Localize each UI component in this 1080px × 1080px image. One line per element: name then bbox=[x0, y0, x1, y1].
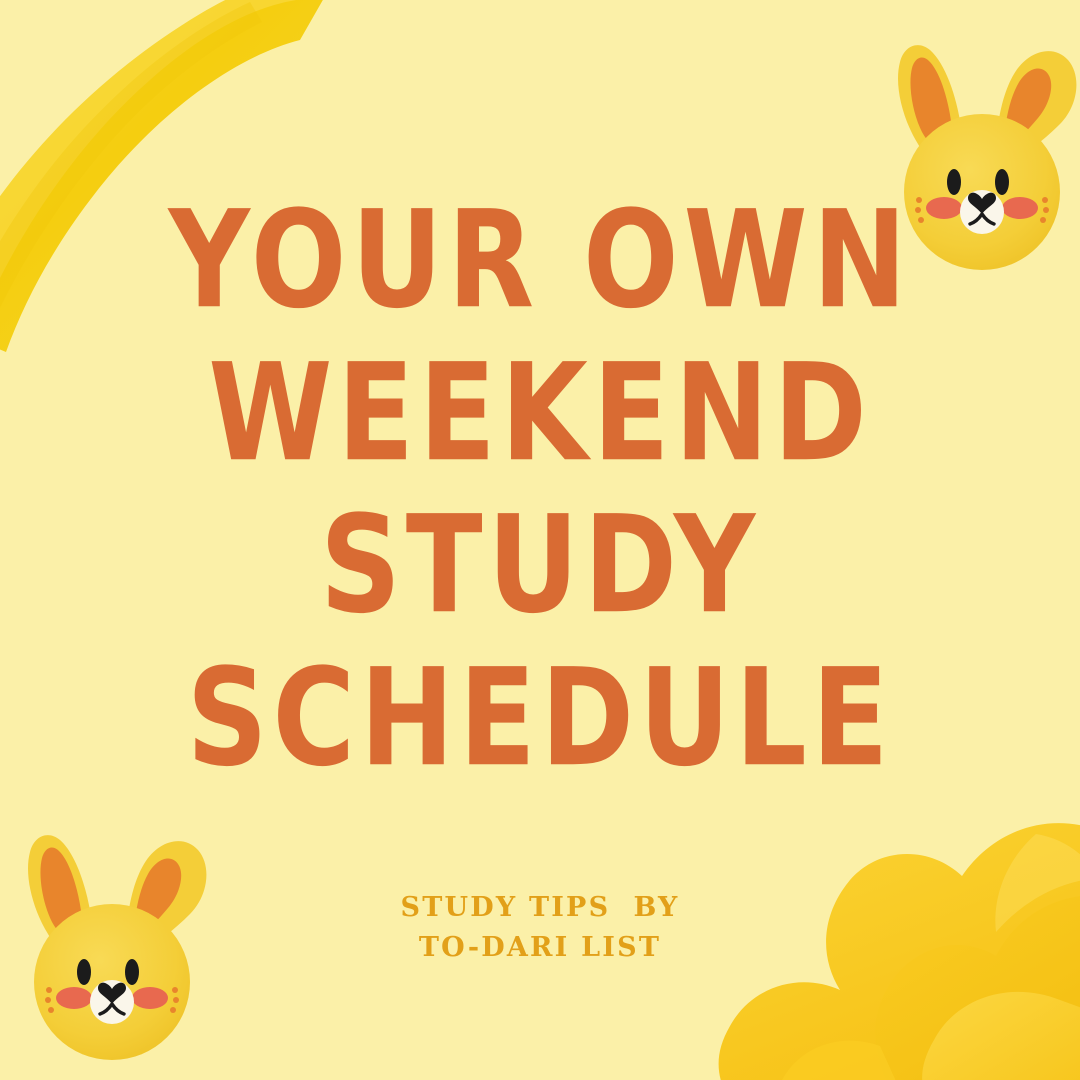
title-line-1: YOUR OWN bbox=[16, 196, 1064, 327]
title-line-2: WEEKEND bbox=[16, 349, 1064, 480]
poster-title: YOUR OWN WEEKEND STUDY SCHEDULE bbox=[0, 196, 1080, 766]
title-line-4: SCHEDULE bbox=[16, 654, 1064, 785]
title-line-3: STUDY bbox=[16, 501, 1064, 632]
poster-subtitle: STUDY TIPS BY TO-DARI LIST bbox=[0, 888, 1080, 968]
subtitle-line-1: STUDY TIPS BY bbox=[0, 888, 1080, 928]
poster-canvas: YOUR OWN WEEKEND STUDY SCHEDULE STUDY TI… bbox=[0, 0, 1080, 1080]
bunny-right-cheek-icon bbox=[132, 987, 168, 1009]
bunny-left-eye-icon bbox=[947, 169, 961, 195]
bunny-left-cheek-icon bbox=[56, 987, 92, 1009]
subtitle-line-2: TO-DARI LIST bbox=[0, 928, 1080, 968]
bunny-right-eye-icon bbox=[995, 169, 1009, 195]
